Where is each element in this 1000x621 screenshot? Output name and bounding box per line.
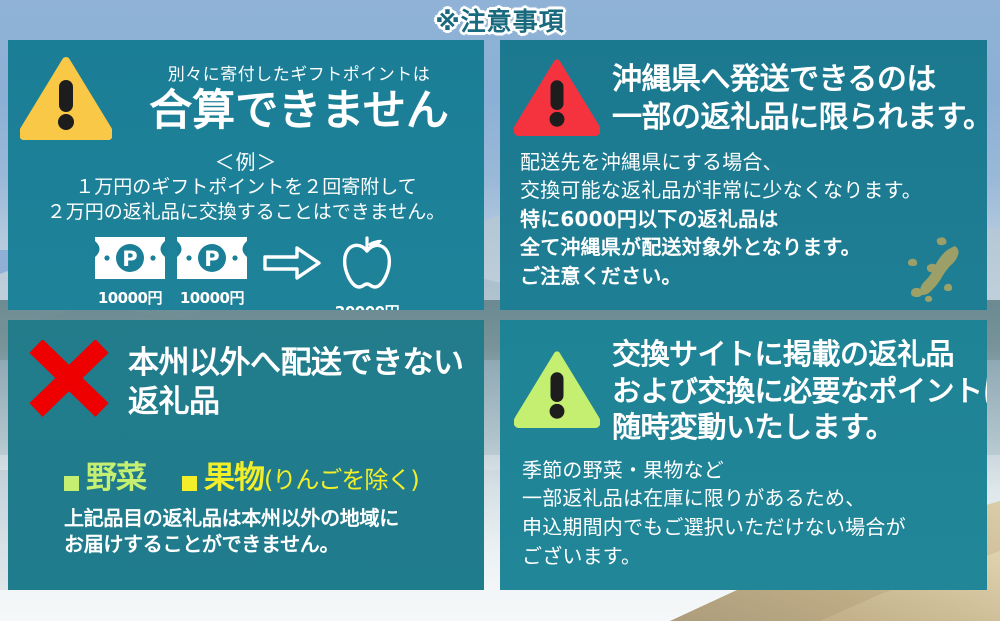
page-header: ※注意事項 bbox=[0, 0, 1000, 40]
point-bill-group-2: P 10000円 bbox=[175, 235, 249, 308]
point-bill-caption: 10000円 bbox=[98, 287, 162, 308]
panel1-example-label: ＜例＞ bbox=[8, 146, 484, 175]
point-bill-icon: P bbox=[93, 235, 167, 285]
list-item-vegetables: 野菜 bbox=[64, 452, 146, 497]
panel4-body-line-1: 季節の野菜・果物など bbox=[522, 456, 987, 485]
panel3-heading-text: 本州以外へ配送できない 返礼品 bbox=[128, 344, 464, 422]
arrow-right-icon bbox=[263, 235, 321, 291]
panel4-headline-line-1: 交換サイトに掲載の返礼品 bbox=[612, 336, 987, 373]
panel4-body-line-2: 一部返礼品は在庫に限りがあるため、 bbox=[522, 484, 987, 513]
warning-triangle-icon bbox=[514, 350, 600, 432]
list-item-label: 野菜 bbox=[86, 460, 146, 496]
panel4-headline-line-3: 随時変動いたします。 bbox=[612, 409, 987, 446]
list-item-label: 果物 bbox=[204, 460, 264, 496]
panel2-headline-line-1: 沖縄県へ発送できるのは bbox=[612, 61, 987, 99]
panel2-body-line-5: ご注意ください。 bbox=[520, 262, 987, 290]
panel1-example-line-1: １万円のギフトポイントを２回寄附して bbox=[8, 175, 484, 200]
panel4-body: 季節の野菜・果物など 一部返礼品は在庫に限りがあるため、 申込期間内でもご選択い… bbox=[500, 446, 987, 571]
panel4-heading-row: 交換サイトに掲載の返礼品 および交換に必要なポイントは 随時変動いたします。 bbox=[500, 320, 987, 446]
panel1-heading-row: 別々に寄付したギフトポイントは 合算できません bbox=[8, 40, 484, 144]
list-item-fruit: 果物(りんごを除く) bbox=[182, 452, 419, 497]
point-bill-icon: P bbox=[175, 235, 249, 285]
panel4-heading-text: 交換サイトに掲載の返礼品 および交換に必要なポイントは 随時変動いたします。 bbox=[612, 336, 987, 446]
panel3-footer-line-2: お届けすることができません。 bbox=[64, 531, 484, 557]
panel1-headline: 合算できません bbox=[114, 87, 484, 135]
warning-triangle-icon bbox=[514, 58, 600, 140]
page-title: ※注意事項 bbox=[435, 2, 564, 38]
panel3-item-list: 野菜 果物(りんごを除く) bbox=[8, 426, 484, 497]
panel2-body-line-2: 交換可能な返礼品が非常に少なくなります。 bbox=[520, 176, 987, 204]
panel-point-fluctuation: 交換サイトに掲載の返礼品 および交換に必要なポイントは 随時変動いたします。 季… bbox=[500, 320, 987, 590]
panel4-body-line-3: 申込期間内でもご選択いただけない場合が bbox=[522, 513, 987, 542]
point-bill-caption: 10000円 bbox=[180, 287, 244, 308]
warning-triangle-icon bbox=[20, 56, 112, 144]
panel2-body-line-4: 全て沖縄県が配送対象外となります。 bbox=[520, 233, 987, 261]
panel3-headline-line-1: 本州以外へ配送できない bbox=[128, 344, 464, 383]
panel3-footer: 上記品目の返礼品は本州以外の地域に お届けすることができません。 bbox=[8, 497, 484, 557]
cross-mark-icon bbox=[26, 340, 112, 426]
panel-honshu-only-shipping: 本州以外へ配送できない 返礼品 野菜 果物(りんごを除く) 上記品目の返礼品は本… bbox=[8, 320, 484, 590]
panel2-heading-text: 沖縄県へ発送できるのは 一部の返礼品に限られます。 bbox=[612, 61, 987, 138]
svg-text:P: P bbox=[204, 247, 219, 271]
panel3-footer-line-1: 上記品目の返礼品は本州以外の地域に bbox=[64, 505, 484, 531]
apple-icon bbox=[337, 235, 397, 297]
panel2-heading-row: 沖縄県へ発送できるのは 一部の返礼品に限られます。 bbox=[500, 40, 987, 140]
panel4-headline-line-2: および交換に必要なポイントは bbox=[612, 373, 987, 410]
panel-okinawa-shipping: 沖縄県へ発送できるのは 一部の返礼品に限られます。 配送先を沖縄県にする場合、 … bbox=[500, 40, 987, 310]
panel1-lead: 別々に寄付したギフトポイントは bbox=[114, 65, 484, 85]
panel2-headline-line-2: 一部の返礼品に限られます。 bbox=[612, 99, 987, 137]
list-item-note: (りんごを除く) bbox=[264, 466, 419, 494]
svg-text:P: P bbox=[122, 247, 137, 271]
point-bill-group-1: P 10000円 bbox=[93, 235, 167, 308]
panel2-body: 配送先を沖縄県にする場合、 交換可能な返礼品が非常に少なくなります。 特に600… bbox=[500, 140, 987, 290]
square-bullet-icon bbox=[64, 476, 79, 491]
panel1-heading-text: 別々に寄付したギフトポイントは 合算できません bbox=[114, 65, 484, 135]
panel3-heading-row: 本州以外へ配送できない 返礼品 bbox=[8, 320, 484, 426]
panel3-headline-line-2: 返礼品 bbox=[128, 383, 464, 422]
panel2-body-line-3: 特に6000円以下の返礼品は bbox=[520, 205, 987, 233]
panel1-example-line-2: ２万円の返礼品に交換することはできません。 bbox=[8, 200, 484, 225]
panel-gift-point-merge: 別々に寄付したギフトポイントは 合算できません ＜例＞ １万円のギフトポイントを… bbox=[8, 40, 484, 310]
panel4-body-line-4: ございます。 bbox=[522, 542, 987, 571]
panel2-body-line-1: 配送先を沖縄県にする場合、 bbox=[520, 148, 987, 176]
apple-group: 20000円 bbox=[335, 235, 399, 310]
notice-infographic: ※注意事項 別々に寄付したギフトポイントは 合算できません ＜例＞ １ bbox=[0, 0, 1000, 621]
panel1-icon-row: P 10000円 P bbox=[8, 235, 484, 310]
apple-caption: 20000円 bbox=[335, 301, 399, 310]
square-bullet-icon bbox=[182, 476, 197, 491]
